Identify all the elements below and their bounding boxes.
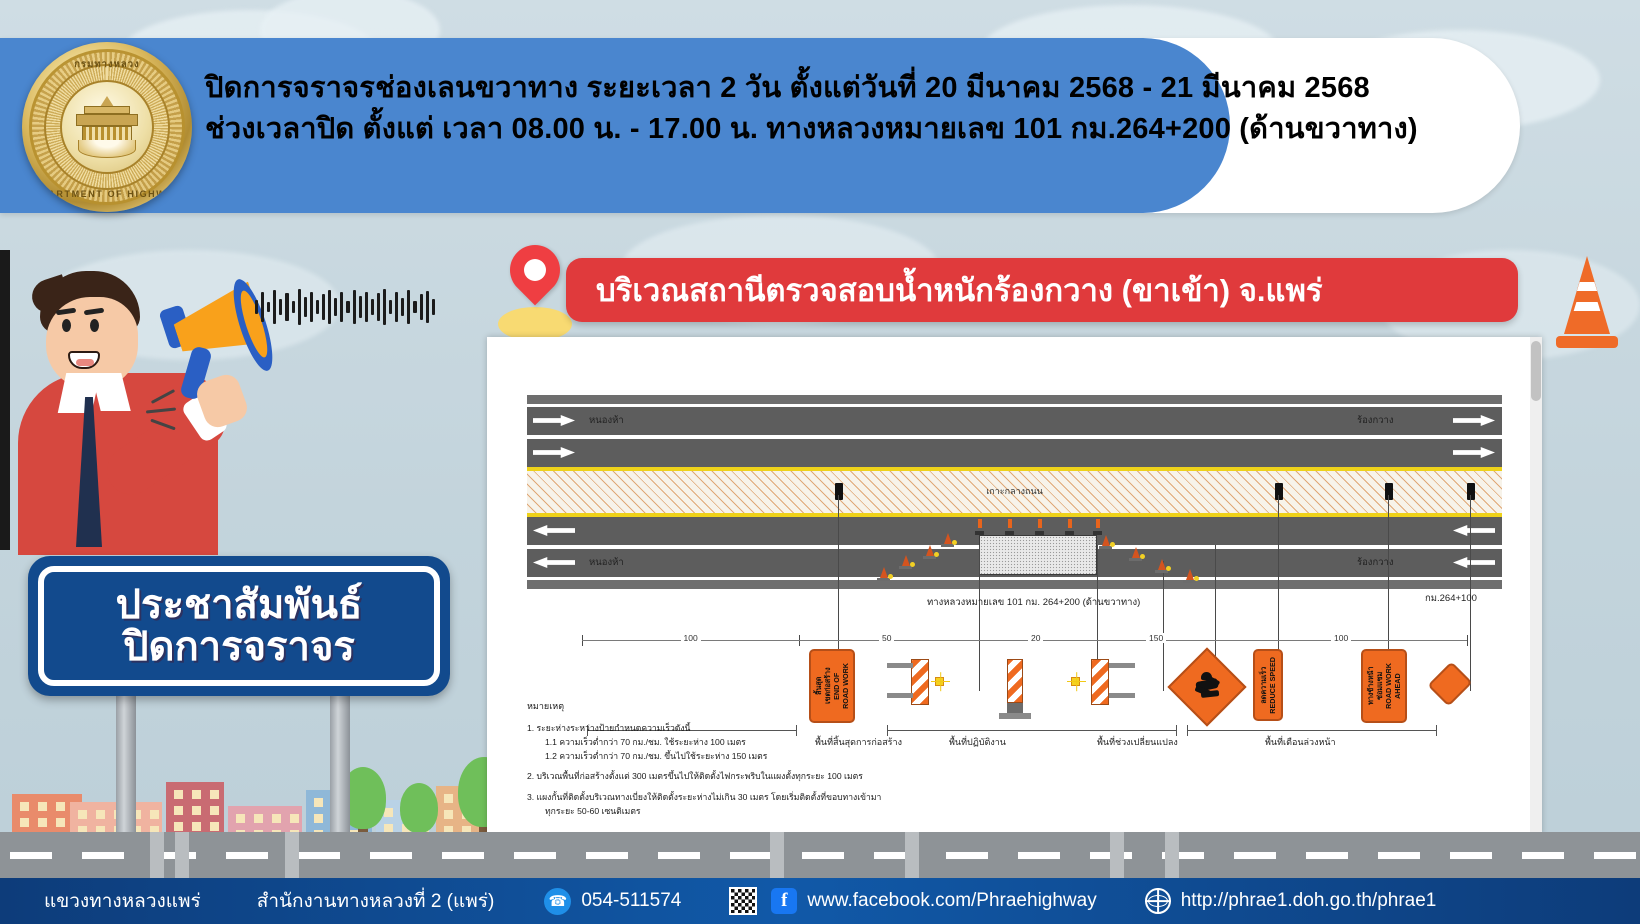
road-dash xyxy=(82,852,124,859)
cone-marker xyxy=(941,533,954,547)
highway-label: ทางหลวงหมายเลข 101 กม. 264+200 (ด้านขวาท… xyxy=(927,595,1140,610)
note-3: 3. แผงกั้นที่ติดตั้งบริเวณทางเบี่ยงให้ติ… xyxy=(527,790,997,804)
window xyxy=(56,818,65,827)
note-1: 1. ระยะห่างระหว่างป้ายกำหนดความเร็วดังนี… xyxy=(527,721,997,735)
warning-lamp-icon xyxy=(975,519,984,535)
soundwave-bar xyxy=(310,292,313,322)
warning-lamp-icon xyxy=(1093,519,1102,535)
soundwave-bar xyxy=(365,292,368,322)
road-dash xyxy=(802,852,844,859)
sign-post-right xyxy=(330,690,350,840)
footer-bar: แขวงทางหลวงแพร่ สำนักงานทางหลวงที่ 2 (แพ… xyxy=(0,878,1640,924)
cone-marker xyxy=(1099,535,1112,549)
roof-lower xyxy=(76,114,138,126)
soundwave-bar xyxy=(420,294,423,320)
notes-heading: หมายเหตุ xyxy=(527,699,997,714)
soundwave-bar xyxy=(273,290,276,324)
km-label-right: กม.264+100 xyxy=(1425,591,1477,606)
road-dash xyxy=(586,852,628,859)
soundwave-bar xyxy=(267,302,270,312)
phone-icon: ☎ xyxy=(544,888,571,915)
pin-dot xyxy=(524,259,546,281)
road-dash xyxy=(1594,852,1636,859)
road-dash xyxy=(298,852,340,859)
footer-bureau-text: สำนักงานทางหลวงที่ 2 (แพร่) xyxy=(257,886,495,916)
zone-label-3: พื้นที่เตือนล่วงหน้า xyxy=(1265,735,1336,749)
department-of-highways-seal: กรมทางหลวง DEPARTMENT OF HIGHWAYS xyxy=(22,42,192,212)
soundwave-bar xyxy=(292,301,295,313)
soundwave-bar xyxy=(334,298,337,316)
seal-top-text: กรมทางหลวง xyxy=(22,57,192,72)
window xyxy=(38,802,47,811)
footer-phone-text: 054-511574 xyxy=(581,890,681,912)
road-dash xyxy=(226,852,268,859)
cone-body xyxy=(1564,256,1610,334)
road-dash xyxy=(370,852,412,859)
road-dash xyxy=(10,852,52,859)
road-dash xyxy=(1234,852,1276,859)
soundwave-bar xyxy=(316,300,319,314)
soundwave-bar xyxy=(395,292,398,322)
soundwave-bar xyxy=(432,299,435,315)
dimension-value: 150 xyxy=(1146,633,1166,643)
road-kerb xyxy=(1110,832,1124,878)
road-dash xyxy=(1522,852,1564,859)
barricade-panel xyxy=(1091,659,1109,705)
sign-diamond-small xyxy=(1427,661,1472,706)
diagram-scrollbar[interactable] xyxy=(1530,337,1542,835)
globe-icon xyxy=(1145,888,1171,914)
sign-road-work-ahead-text: ทางข้างหน้า ซ่อมแซม ROAD WORK AHEAD xyxy=(1366,663,1402,709)
cone-marker xyxy=(1183,569,1196,583)
dimension-value: 100 xyxy=(681,633,701,643)
lane-nb-2 xyxy=(527,439,1502,467)
lane-nb-1 xyxy=(527,407,1502,435)
sign-road-work-ahead: ทางข้างหน้า ซ่อมแซม ROAD WORK AHEAD xyxy=(1361,649,1407,723)
road-kerb xyxy=(1165,832,1179,878)
dimension-value: 20 xyxy=(1028,633,1043,643)
sign-flagger-worker xyxy=(1167,647,1246,726)
road-dash xyxy=(946,852,988,859)
warning-lamp-icon xyxy=(1005,519,1014,535)
road-label-right-top: ร้องกวาง xyxy=(1357,413,1394,428)
soundwave-bar xyxy=(389,300,392,314)
road-dash xyxy=(1306,852,1348,859)
soundwave-bar xyxy=(346,301,349,313)
footer-website[interactable]: http://phrae1.doh.go.th/phrae1 xyxy=(1145,888,1437,914)
cone-stripe xyxy=(1564,302,1610,311)
footer-website-text: http://phrae1.doh.go.th/phrae1 xyxy=(1181,890,1437,912)
megaphone-man-illustration xyxy=(18,255,248,555)
leader-line xyxy=(979,545,980,691)
road-kerb xyxy=(905,832,919,878)
note-2: 2. บริเวณพื้นที่ก่อสร้างตั้งแต่ 300 เมตร… xyxy=(527,769,997,783)
road-kerb xyxy=(175,832,189,878)
note-1-1: 1.1 ความเร็วต่ำกว่า 70 กม./ชม. ใช้ระยะห่… xyxy=(545,735,997,749)
soundwave-icon xyxy=(255,280,435,334)
seal-emblem-icon xyxy=(76,102,138,158)
soundwave-bar xyxy=(328,290,331,324)
road-dash xyxy=(442,852,484,859)
soundwave-bar xyxy=(377,293,380,321)
leader-line xyxy=(1163,561,1164,691)
barricade-leg xyxy=(887,693,913,698)
dimension-value: 50 xyxy=(879,633,894,643)
soundwave-bar xyxy=(322,294,325,320)
footer-facebook[interactable]: f www.facebook.com/Phraehighway xyxy=(771,888,1096,914)
pr-sign-line-1: ประชาสัมพันธ์ xyxy=(116,584,363,626)
blinker-light-icon xyxy=(1071,677,1080,686)
roadway-plan: เกาะกลางถนน หนองห้า หนองห้า ร้องกวาง ร้อ… xyxy=(527,395,1502,590)
traffic-control-diagram: เกาะกลางถนน หนองห้า หนองห้า ร้องกวาง ร้อ… xyxy=(487,337,1542,835)
pin-shadow xyxy=(498,307,572,341)
barricade-panel xyxy=(1007,659,1023,703)
traffic-cone-icon xyxy=(1556,256,1618,348)
road-dash xyxy=(514,852,556,859)
header-banner: ปิดการจราจรช่องเลนขวาทาง ระยะเวลา 2 วัน … xyxy=(0,38,1520,213)
soundwave-bar xyxy=(407,290,410,324)
drape xyxy=(78,140,136,158)
barricade-base xyxy=(999,713,1031,719)
soundwave-bar xyxy=(279,299,282,315)
public-relations-sign: ประชาสัมพันธ์ ปิดการจราจร xyxy=(28,556,450,696)
cone-stripe xyxy=(1564,282,1610,291)
road-strip xyxy=(0,832,1640,878)
location-banner: บริเวณสถานีตรวจสอบน้ำหนักร้องกวาง (ขาเข้… xyxy=(566,258,1518,322)
diagram-notes: หมายเหตุ 1. ระยะห่างระหว่างป้ายกำหนดความ… xyxy=(527,699,997,818)
cone-marker xyxy=(923,545,936,559)
barricade-leg xyxy=(887,663,913,668)
man-eye-right xyxy=(90,319,99,332)
footer-facebook-text: www.facebook.com/Phraehighway xyxy=(807,890,1096,912)
worker-icon xyxy=(1192,672,1222,702)
pr-sign-inner: ประชาสัมพันธ์ ปิดการจราจร xyxy=(38,566,440,686)
zone-bracket xyxy=(1187,725,1437,735)
header-text: ปิดการจราจรช่องเลนขวาทาง ระยะเวลา 2 วัน … xyxy=(205,68,1495,150)
location-banner-text: บริเวณสถานีตรวจสอบน้ำหนักร้องกวาง (ขาเข้… xyxy=(596,265,1323,315)
man-eye-left xyxy=(62,319,71,332)
barricade-leg xyxy=(1109,693,1135,698)
note-3-cont: ทุกระยะ 50-60 เซนติเมตร xyxy=(545,804,997,818)
sign-post-left xyxy=(116,690,136,840)
soundwave-bar xyxy=(353,290,356,324)
soundwave-bar xyxy=(413,301,416,313)
window xyxy=(56,802,65,811)
blinker-light-icon xyxy=(935,677,944,686)
left-pole xyxy=(0,250,10,550)
header-line-1: ปิดการจราจรช่องเลนขวาทาง ระยะเวลา 2 วัน … xyxy=(205,68,1495,109)
soundwave-bar xyxy=(401,298,404,316)
cone-base xyxy=(1556,336,1618,348)
footer-qr xyxy=(729,887,757,915)
tree-crown xyxy=(400,783,438,833)
soundwave-bar xyxy=(255,300,258,314)
window xyxy=(38,818,47,827)
soundwave-bar xyxy=(383,289,386,325)
road-label-left-bottom: หนองห้า xyxy=(589,555,624,570)
soundwave-bar xyxy=(340,292,343,322)
dimension-line: 1005020150100 xyxy=(527,633,1502,647)
soundwave-bar xyxy=(371,299,374,315)
note-1-2: 1.2 ความเร็วต่ำกว่า 70 กม./ชม. ขึ้นไปใช้… xyxy=(545,749,997,763)
sign-reduce-speed: ลดความเร็ว REDUCE SPEED xyxy=(1253,649,1283,721)
warning-lamp-icon xyxy=(1065,519,1074,535)
road-kerb xyxy=(150,832,164,878)
zone-label-2: พื้นที่ช่วงเปลี่ยนแปลง xyxy=(1097,735,1178,749)
road-dash xyxy=(1378,852,1420,859)
sign-reduce-speed-text: ลดความเร็ว REDUCE SPEED xyxy=(1259,657,1277,714)
roof-upper xyxy=(84,106,130,114)
road-kerb xyxy=(770,832,784,878)
seal-bottom-text: DEPARTMENT OF HIGHWAYS xyxy=(22,189,192,199)
barricade-leg xyxy=(1109,663,1135,668)
road-dash xyxy=(1018,852,1060,859)
header-line-2: ช่วงเวลาปิด ตั้งแต่ เวลา 08.00 น. - 17.0… xyxy=(205,109,1495,150)
top-shoulder xyxy=(527,395,1502,404)
soundwave-bar xyxy=(285,293,288,321)
footer-office-text: แขวงทางหลวงแพร่ xyxy=(44,886,201,916)
cone-marker xyxy=(877,567,890,581)
sign-posts xyxy=(80,690,400,850)
bottom-shoulder xyxy=(527,580,1502,589)
footer-phone[interactable]: ☎ 054-511574 xyxy=(544,888,681,915)
window xyxy=(20,818,29,827)
pr-sign-line-2: ปิดการจราจร xyxy=(123,626,355,668)
median-strip: เกาะกลางถนน xyxy=(527,471,1502,513)
footer-office: แขวงทางหลวงแพร่ xyxy=(44,886,201,916)
facebook-icon: f xyxy=(771,888,797,914)
qr-code-icon xyxy=(729,887,757,915)
soundwave-bar xyxy=(304,297,307,317)
road-dash xyxy=(730,852,772,859)
soundwave-bar xyxy=(298,289,301,325)
road-label-left-top: หนองห้า xyxy=(589,413,624,428)
soundwave-bar xyxy=(261,292,264,322)
dimension-tick xyxy=(1467,635,1468,646)
work-area-box xyxy=(979,535,1097,575)
footer-bureau: สำนักงานทางหลวงที่ 2 (แพร่) xyxy=(257,886,495,916)
road-dash xyxy=(1450,852,1492,859)
window xyxy=(20,802,29,811)
dimension-value: 100 xyxy=(1331,633,1351,643)
median-label: เกาะกลางถนน xyxy=(527,484,1502,498)
soundwave-bar xyxy=(426,291,429,323)
cone-marker xyxy=(1129,547,1142,561)
soundwave-bar xyxy=(359,296,362,318)
cone-marker xyxy=(899,555,912,569)
cone-marker xyxy=(1155,559,1168,573)
road-dash xyxy=(658,852,700,859)
warning-lamp-icon xyxy=(1035,519,1044,535)
road-kerb xyxy=(285,832,299,878)
